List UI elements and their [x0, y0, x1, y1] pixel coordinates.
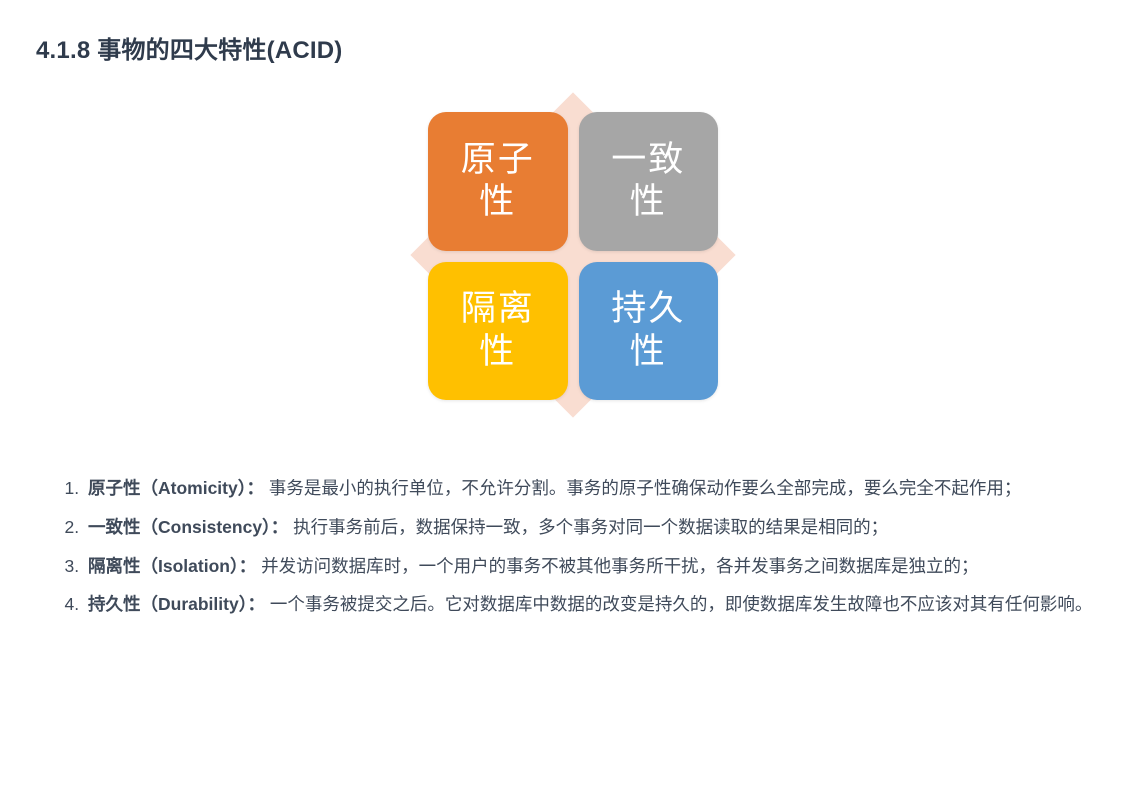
list-item-term-cn: 隔离性 — [88, 556, 141, 576]
acid-cell-isolation-label: 隔离性 — [454, 288, 542, 373]
list-item-term-en: （Atomicity）： — [141, 478, 264, 498]
list-item-term-en: （Consistency）： — [141, 517, 289, 537]
acid-cell-atomicity: 原子性 — [428, 112, 568, 251]
acid-cell-durability-label: 持久性 — [605, 288, 693, 373]
list-item-description: 并发访问数据库时，一个用户的事务不被其他事务所干扰，各并发事务之间数据库是独立的… — [256, 556, 978, 576]
list-item: 原子性（Atomicity）： 事务是最小的执行单位，不允许分割。事务的原子性确… — [84, 470, 1140, 508]
acid-cell-atomicity-label: 原子性 — [454, 139, 542, 224]
list-item-description: 事务是最小的执行单位，不允许分割。事务的原子性确保动作要么全部完成，要么完全不起… — [264, 478, 1021, 498]
acid-cell-consistency-label: 一致性 — [605, 139, 693, 224]
list-item: 一致性（Consistency）： 执行事务前后，数据保持一致，多个事务对同一个… — [84, 509, 1140, 547]
list-item-term-cn: 原子性 — [88, 478, 141, 498]
page-title: 4.1.8 事物的四大特性(ACID) — [36, 30, 343, 65]
list-item: 持久性（Durability）： 一个事务被提交之后。它对数据库中数据的改变是持… — [84, 586, 1140, 624]
document-page: 4.1.8 事物的四大特性(ACID) 原子性 一致性 隔离性 持久性 原子性（… — [0, 0, 1140, 793]
list-item-term-en: （Isolation）： — [141, 556, 257, 576]
acid-cell-isolation: 隔离性 — [428, 262, 568, 401]
acid-cell-durability: 持久性 — [579, 262, 719, 401]
acid-cell-consistency: 一致性 — [579, 112, 719, 251]
list-item-description: 一个事务被提交之后。它对数据库中数据的改变是持久的，即使数据库发生故障也不应该对… — [265, 594, 1092, 614]
list-item-term-cn: 持久性 — [88, 594, 141, 614]
acid-property-list: 原子性（Atomicity）： 事务是最小的执行单位，不允许分割。事务的原子性确… — [40, 470, 1140, 625]
list-item-term-en: （Durability）： — [141, 594, 265, 614]
acid-quadrant-diagram: 原子性 一致性 隔离性 持久性 — [408, 72, 738, 438]
list-item: 隔离性（Isolation）： 并发访问数据库时，一个用户的事务不被其他事务所干… — [84, 548, 1140, 586]
acid-quadrant-grid: 原子性 一致性 隔离性 持久性 — [428, 112, 718, 400]
list-item-term-cn: 一致性 — [88, 517, 141, 537]
list-item-description: 执行事务前后，数据保持一致，多个事务对同一个数据读取的结果是相同的； — [288, 517, 888, 537]
